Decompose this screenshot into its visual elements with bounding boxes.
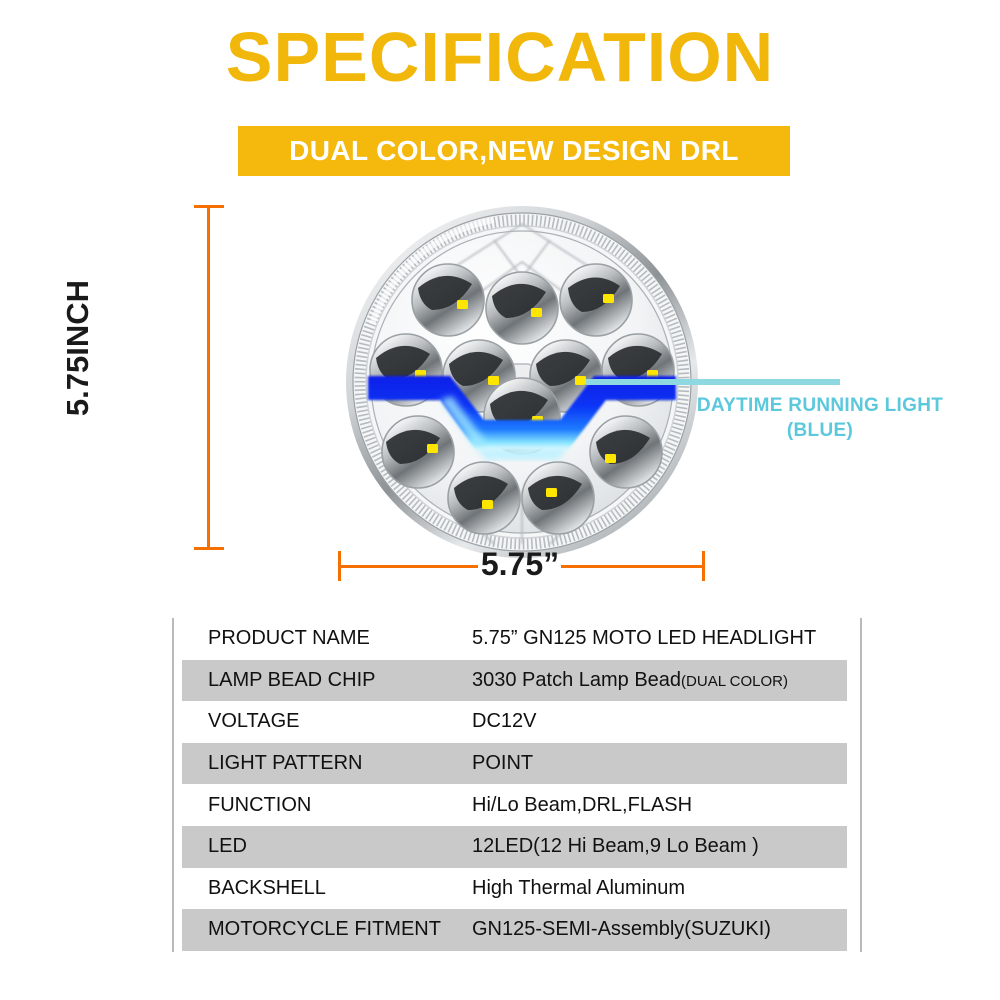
table-row: VOLTAGEDC12V <box>182 701 847 743</box>
table-cell-value: 5.75” GN125 MOTO LED HEADLIGHT <box>472 627 847 650</box>
drl-callout-label: DAYTIME RUNNING LIGHT (BLUE) <box>640 393 1000 443</box>
table-cell-key: LAMP BEAD CHIP <box>182 669 472 692</box>
height-dimension-cap-top <box>194 205 224 208</box>
drl-callout-leader-line <box>586 379 840 385</box>
table-border-left <box>172 618 174 952</box>
width-dimension-line-right <box>561 565 705 568</box>
table-cell-key: BACKSHELL <box>182 877 472 900</box>
width-dimension-label: 5.75” <box>460 546 580 583</box>
table-cell-value: POINT <box>472 752 847 775</box>
table-row: LAMP BEAD CHIP3030 Patch Lamp Bead(DUAL … <box>182 660 847 702</box>
height-dimension-line <box>207 205 210 550</box>
drl-callout-line1: DAYTIME RUNNING LIGHT <box>697 395 943 416</box>
page-title: SPECIFICATION <box>0 22 1000 92</box>
subtitle-banner: DUAL COLOR,NEW DESIGN DRL <box>238 126 790 176</box>
drl-callout-line2: (BLUE) <box>787 420 853 441</box>
table-cell-value: 3030 Patch Lamp Bead(DUAL COLOR) <box>472 669 847 692</box>
table-cell-value-note: (DUAL COLOR) <box>681 673 788 690</box>
table-cell-value: Hi/Lo Beam,DRL,FLASH <box>472 794 847 817</box>
table-row: PRODUCT NAME5.75” GN125 MOTO LED HEADLIG… <box>182 618 847 660</box>
specification-table: PRODUCT NAME5.75” GN125 MOTO LED HEADLIG… <box>172 618 862 952</box>
height-dimension-cap-bottom <box>194 547 224 550</box>
width-dimension-line-left <box>338 565 478 568</box>
table-cell-key: PRODUCT NAME <box>182 627 472 650</box>
table-row: LIGHT PATTERNPOINT <box>182 743 847 785</box>
table-cell-key: VOLTAGE <box>182 710 472 733</box>
specification-page: SPECIFICATION DUAL COLOR,NEW DESIGN DRL <box>0 0 1000 1000</box>
table-cell-value: High Thermal Aluminum <box>472 877 847 900</box>
table-border-right <box>860 618 862 952</box>
table-cell-key: LIGHT PATTERN <box>182 752 472 775</box>
table-row: BACKSHELLHigh Thermal Aluminum <box>182 868 847 910</box>
table-row: LED12LED(12 Hi Beam,9 Lo Beam ) <box>182 826 847 868</box>
height-dimension-label: 5.75INCH <box>60 228 96 468</box>
table-cell-value: GN125-SEMI-Assembly(SUZUKI) <box>472 918 847 941</box>
table-body: PRODUCT NAME5.75” GN125 MOTO LED HEADLIG… <box>182 618 847 951</box>
table-cell-value: 12LED(12 Hi Beam,9 Lo Beam ) <box>472 835 847 858</box>
table-row: MOTORCYCLE FITMENTGN125-SEMI-Assembly(SU… <box>182 909 847 951</box>
table-cell-key: LED <box>182 835 472 858</box>
table-cell-key: MOTORCYCLE FITMENT <box>182 918 472 941</box>
table-cell-key: FUNCTION <box>182 794 472 817</box>
subtitle-banner-label: DUAL COLOR,NEW DESIGN DRL <box>238 126 790 176</box>
table-cell-value: DC12V <box>472 710 847 733</box>
table-row: FUNCTIONHi/Lo Beam,DRL,FLASH <box>182 784 847 826</box>
